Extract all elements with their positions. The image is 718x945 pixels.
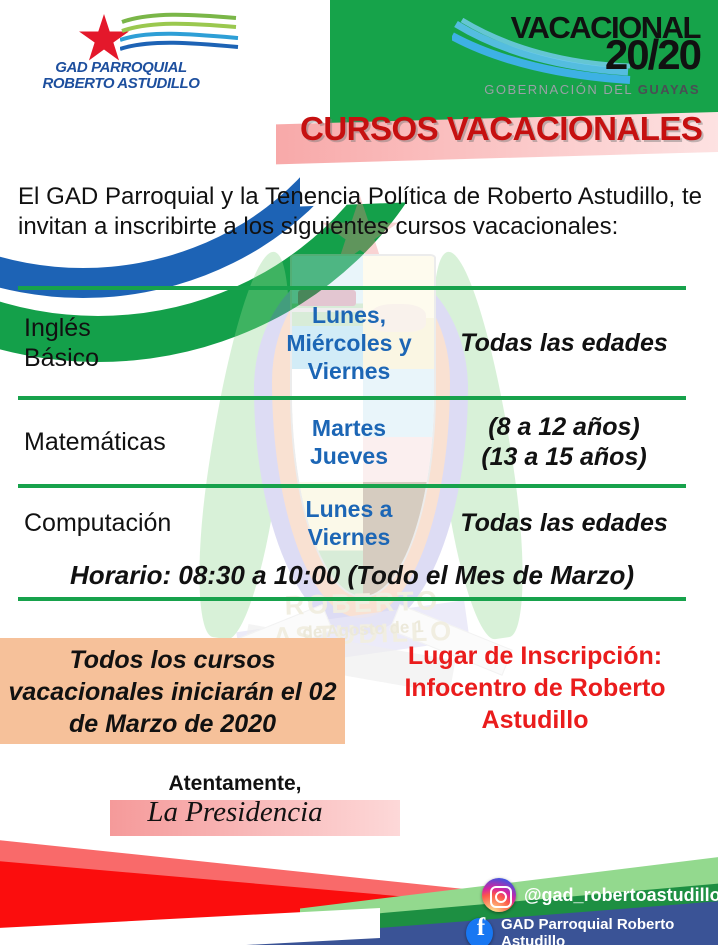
logo-left-line1: GAD PARROQUIAL — [16, 60, 226, 76]
course-days-cell: Lunes a Viernes — [256, 495, 442, 551]
start-date-line2: vacacionales iniciarán el 02 — [0, 676, 345, 708]
page-title: CURSOS VACACIONALES — [300, 110, 718, 148]
ages-line1: Todas las edades — [442, 508, 686, 538]
days-line3: Viernes — [256, 357, 442, 385]
vacacional-year: 20/20 — [508, 34, 700, 76]
gobernacion-subtitle: GOBERNACIÓN DEL GUAYAS — [450, 82, 700, 97]
ages-line2: (13 a 15 años) — [442, 442, 686, 472]
course-name-line1: Computación — [24, 508, 256, 538]
gobernacion-light: GOBERNACIÓN DEL — [484, 82, 638, 97]
course-name-line2: Básico — [24, 343, 256, 373]
facebook-link[interactable]: GAD Parroquial Roberto Astudillo — [466, 916, 718, 945]
logo-left-text: GAD PARROQUIAL ROBERTO ASTUDILLO — [16, 60, 226, 92]
days-line1: Martes — [256, 414, 442, 442]
ages-line1: (8 a 12 años) — [442, 412, 686, 442]
vacacional-2020-logo: VACACIONAL 20/20 GOBERNACIÓN DEL GUAYAS — [450, 4, 700, 106]
gad-parroquial-logo: GAD PARROQUIAL ROBERTO ASTUDILLO — [16, 8, 226, 98]
start-date-box: Todos los cursos vacacionales iniciarán … — [0, 638, 345, 744]
place-line3: Astudillo — [370, 704, 700, 736]
poster: ROBERTO ASTUDILLO de Agosto de 1 GAD PAR… — [0, 0, 718, 945]
instagram-icon[interactable] — [482, 878, 516, 912]
course-name-line1: Inglés — [24, 313, 256, 343]
table-row: Inglés Básico Lunes, Miércoles y Viernes… — [18, 290, 686, 396]
instagram-link[interactable]: @gad_robertoastudillo — [482, 878, 718, 912]
courses-table: Inglés Básico Lunes, Miércoles y Viernes… — [18, 286, 686, 601]
footer-wave-white — [0, 908, 380, 945]
registration-place-box: Lugar de Inscripción: Infocentro de Robe… — [370, 640, 700, 736]
place-line1: Lugar de Inscripción: — [370, 640, 700, 672]
days-line2: Jueves — [256, 442, 442, 470]
course-ages-cell: Todas las edades — [442, 328, 686, 358]
facebook-name: GAD Parroquial Roberto Astudillo — [501, 916, 718, 945]
schedule-note: Horario: 08:30 a 10:00 (Todo el Mes de M… — [18, 558, 686, 597]
footer-wave-red — [0, 856, 460, 945]
days-line2: Miércoles y — [256, 329, 442, 357]
start-date-line1: Todos los cursos — [0, 644, 345, 676]
course-days-cell: Martes Jueves — [256, 414, 442, 470]
instagram-handle: @gad_robertoastudillo — [524, 885, 718, 906]
course-days-cell: Lunes, Miércoles y Viernes — [256, 301, 442, 385]
table-row: Computación Lunes a Viernes Todas las ed… — [18, 488, 686, 558]
gobernacion-bold: GUAYAS — [638, 82, 700, 97]
footer-wave-light-red — [0, 836, 520, 945]
course-name-cell: Inglés Básico — [18, 313, 256, 373]
logo-left-line2: ROBERTO ASTUDILLO — [16, 76, 226, 92]
course-ages-cell: (8 a 12 años) (13 a 15 años) — [442, 412, 686, 472]
place-line2: Infocentro de Roberto — [370, 672, 700, 704]
course-name-cell: Computación — [18, 508, 256, 538]
days-line1: Lunes a — [256, 495, 442, 523]
ages-line1: Todas las edades — [442, 328, 686, 358]
days-line2: Viernes — [256, 523, 442, 551]
facebook-icon[interactable] — [466, 918, 493, 945]
days-line1: Lunes, — [256, 301, 442, 329]
signoff-greeting: Atentamente, — [70, 772, 400, 796]
table-divider — [18, 597, 686, 601]
course-name-cell: Matemáticas — [18, 427, 256, 457]
course-name-line1: Matemáticas — [24, 427, 256, 457]
start-date-text: Todos los cursos vacacionales iniciarán … — [0, 638, 345, 740]
start-date-line3: de Marzo de 2020 — [0, 708, 345, 740]
signature-text: La Presidencia — [70, 796, 400, 829]
course-ages-cell: Todas las edades — [442, 508, 686, 538]
table-row: Matemáticas Martes Jueves (8 a 12 años) … — [18, 400, 686, 484]
intro-paragraph: El GAD Parroquial y la Tenencia Política… — [18, 182, 702, 242]
wave-lines-icon — [120, 12, 240, 56]
